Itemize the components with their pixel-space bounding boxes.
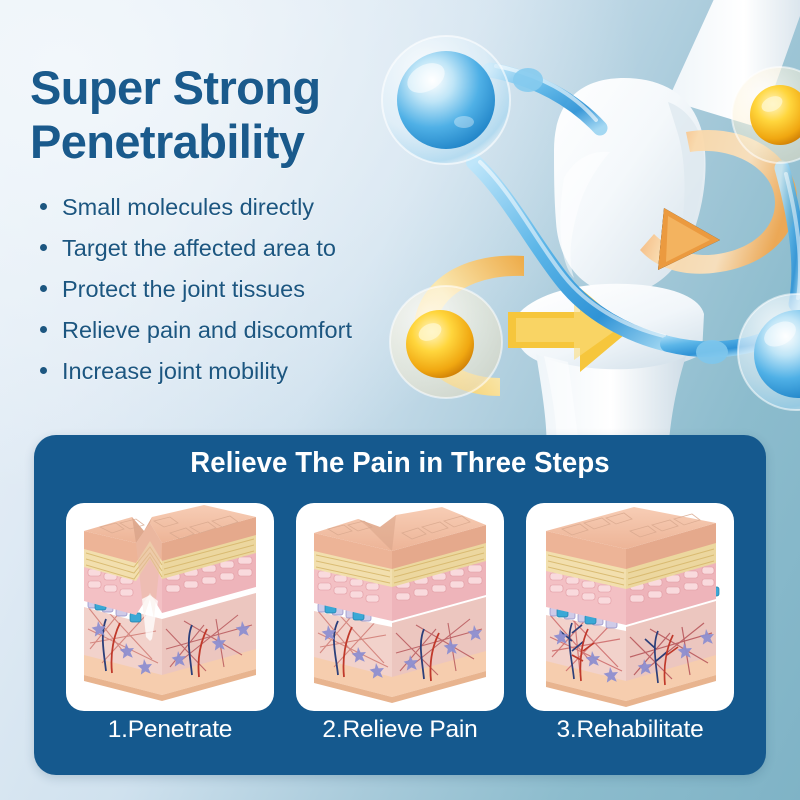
step-card-row [66,503,734,711]
step-card-3 [526,503,734,711]
blue-water-molecule-sphere [738,294,800,410]
list-item-label: Target the affected area to [62,235,336,261]
benefit-list: Small molecules directly Target the affe… [34,192,434,397]
panel-title: Relieve The Pain in Three Steps [52,447,747,480]
bullet-dot-icon [40,203,47,210]
list-item-label: Small molecules directly [62,194,314,220]
step-card-1 [66,503,274,711]
list-item-label: Relieve pain and discomfort [62,317,352,343]
list-item: Protect the joint tissues [34,274,434,304]
bullet-dot-icon [40,326,47,333]
headline-line-1: Super Strong [30,61,320,114]
step-caption-1: 1.Penetrate [66,717,274,744]
step-caption-3: 3.Rehabilitate [526,717,734,744]
list-item-label: Increase joint mobility [62,358,288,384]
bullet-dot-icon [40,367,47,374]
list-item: Relieve pain and discomfort [34,315,434,345]
bullet-dot-icon [40,244,47,251]
bullet-dot-icon [40,285,47,292]
step-caption-2: 2.Relieve Pain [296,717,504,744]
step-card-2 [296,503,504,711]
list-item: Increase joint mobility [34,356,434,386]
step-caption-row: 1.Penetrate 2.Relieve Pain 3.Rehabilitat… [66,717,734,744]
poster-canvas: Super Strong Penetrability Small molecul… [0,0,800,800]
headline-line-2: Penetrability [30,115,430,168]
page-title: Super Strong Penetrability [30,61,430,167]
list-item: Small molecules directly [34,192,434,222]
list-item: Target the affected area to [34,233,434,263]
three-steps-panel: Relieve The Pain in Three Steps [34,435,766,775]
list-item-label: Protect the joint tissues [62,276,305,302]
